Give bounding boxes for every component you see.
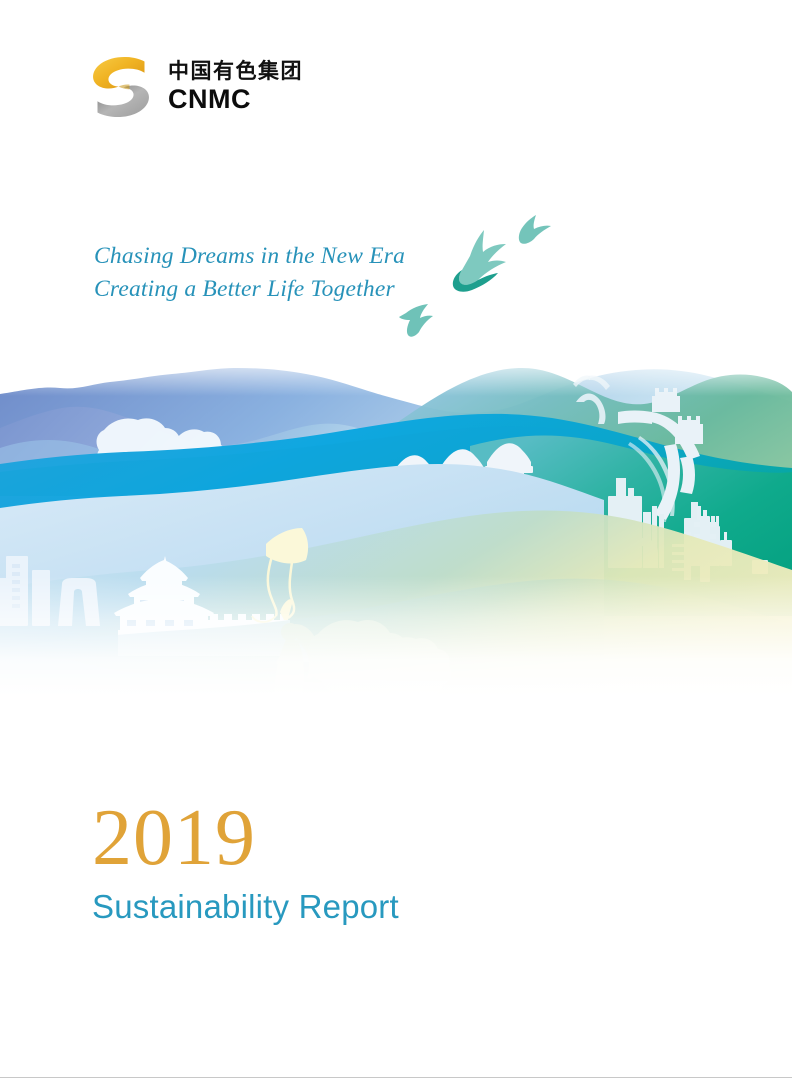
bird-small-right	[519, 215, 551, 244]
logo-gold-swoosh	[93, 57, 144, 89]
logo-chinese-name: 中国有色集团	[168, 61, 303, 82]
bottom-fade	[0, 576, 792, 696]
landscape-layers	[0, 215, 792, 696]
bird-small-right-shape	[519, 215, 551, 244]
report-cover-page: 中国有色集团 CNMC Chasing Dreams in the New Er…	[0, 0, 792, 1078]
cover-illustration	[0, 196, 792, 696]
bird-small-left	[399, 304, 433, 337]
report-year: 2019	[92, 800, 399, 876]
cnmc-swoosh-logo-icon	[88, 56, 154, 118]
company-logo: 中国有色集团 CNMC	[88, 56, 303, 118]
logo-gray-swoosh	[98, 85, 149, 117]
bird-large	[453, 230, 506, 292]
landscape-artwork	[0, 196, 792, 696]
plant-chimney-small	[691, 502, 698, 522]
bird-large-wing	[459, 230, 506, 285]
logo-wordmark: 中国有色集团 CNMC	[168, 61, 303, 113]
cover-title-block: 2019 Sustainability Report	[92, 800, 399, 926]
bird-small-left-shape	[399, 304, 433, 337]
top-fade	[0, 356, 792, 396]
logo-center-link	[119, 84, 130, 89]
logo-english-name: CNMC	[168, 86, 303, 113]
flying-birds	[399, 215, 551, 337]
report-subtitle: Sustainability Report	[92, 888, 399, 926]
